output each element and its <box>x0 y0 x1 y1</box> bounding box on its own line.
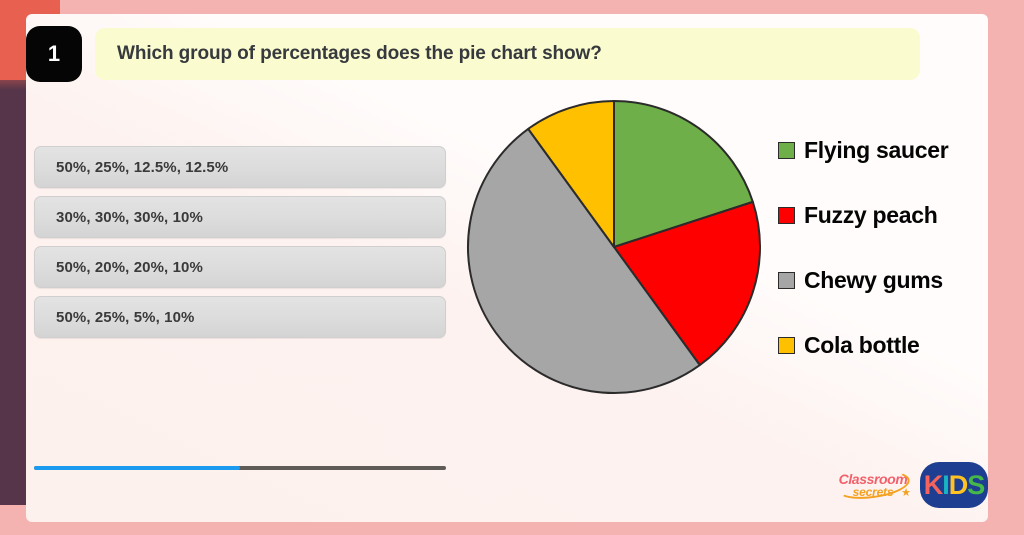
legend-item-flying-saucer: Flying saucer <box>778 126 988 174</box>
pie-legend: Flying saucer Fuzzy peach Chewy gums Col… <box>778 126 988 386</box>
legend-label: Cola bottle <box>804 332 920 359</box>
answer-option-label: 50%, 25%, 5%, 10% <box>35 309 194 326</box>
kids-letter-d: D <box>949 472 968 499</box>
legend-label: Flying saucer <box>804 137 948 164</box>
pie-slices <box>468 101 760 393</box>
classroom-secrets-logo: Classroom secrets ★ <box>834 470 912 500</box>
answer-option-label: 30%, 30%, 30%, 10% <box>35 209 203 226</box>
legend-swatch-icon <box>778 142 795 159</box>
progress-bar-fill <box>34 466 240 470</box>
pie-chart-svg <box>464 92 764 402</box>
legend-label: Chewy gums <box>804 267 943 294</box>
kids-letter-s: S <box>967 472 984 499</box>
answer-options-list: 50%, 25%, 12.5%, 12.5% 30%, 30%, 30%, 10… <box>34 146 454 346</box>
legend-item-chewy-gums: Chewy gums <box>778 256 988 304</box>
slide-frame: 1 Which group of percentages does the pi… <box>0 0 1024 535</box>
question-text: Which group of percentages does the pie … <box>95 43 602 65</box>
question-number-badge: 1 <box>26 26 82 82</box>
legend-label: Fuzzy peach <box>804 202 937 229</box>
footer-logos: Classroom secrets ★ K I D S <box>834 462 988 508</box>
pie-chart <box>464 92 764 402</box>
logo-word-classroom: Classroom <box>839 473 908 486</box>
answer-option-1[interactable]: 50%, 25%, 12.5%, 12.5% <box>34 146 446 188</box>
answer-option-2[interactable]: 30%, 30%, 30%, 10% <box>34 196 446 238</box>
legend-item-fuzzy-peach: Fuzzy peach <box>778 191 988 239</box>
legend-item-cola-bottle: Cola bottle <box>778 321 988 369</box>
question-banner: Which group of percentages does the pie … <box>95 28 920 80</box>
legend-swatch-icon <box>778 272 795 289</box>
question-header: 1 Which group of percentages does the pi… <box>26 26 988 84</box>
answer-option-3[interactable]: 50%, 20%, 20%, 10% <box>34 246 446 288</box>
kids-letter-k: K <box>924 472 943 499</box>
answer-option-label: 50%, 25%, 12.5%, 12.5% <box>35 159 228 176</box>
progress-bar[interactable] <box>34 466 446 470</box>
logo-star-icon: ★ <box>901 488 911 499</box>
answer-option-label: 50%, 20%, 20%, 10% <box>35 259 203 276</box>
logo-word-secrets: secrets <box>853 486 894 498</box>
slide-card: 1 Which group of percentages does the pi… <box>26 14 988 522</box>
legend-swatch-icon <box>778 207 795 224</box>
legend-swatch-icon <box>778 337 795 354</box>
answer-option-4[interactable]: 50%, 25%, 5%, 10% <box>34 296 446 338</box>
kids-logo: K I D S <box>920 462 988 508</box>
